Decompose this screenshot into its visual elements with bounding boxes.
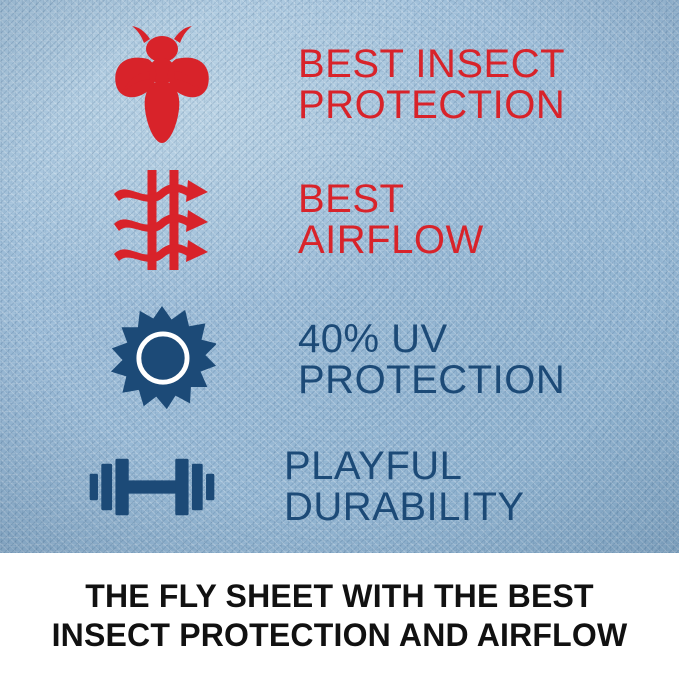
feature-row-durability: PLAYFUL DURABILITY — [88, 432, 668, 542]
bottom-caption: THE FLY SHEET WITH THE BEST INSECT PROTE… — [0, 553, 679, 679]
airflow-arrows-icon — [108, 164, 216, 276]
feature-label-insect-protection: BEST INSECT PROTECTION — [298, 44, 565, 126]
fly-insect-icon — [108, 23, 216, 147]
feature-row-airflow: BEST AIRFLOW — [108, 160, 668, 280]
product-feature-graphic: BEST INSECT PROTECTION — [0, 0, 679, 679]
dumbbell-durability-icon — [88, 445, 216, 529]
feature-label-uv-protection: 40% UV PROTECTION — [298, 319, 565, 401]
feature-label-airflow: BEST AIRFLOW — [298, 179, 484, 261]
feature-row-insect-protection: BEST INSECT PROTECTION — [108, 20, 668, 150]
caption-line-1: THE FLY SHEET WITH THE BEST — [85, 577, 594, 616]
feature-row-uv-protection: 40% UV PROTECTION — [108, 296, 668, 424]
feature-list: BEST INSECT PROTECTION — [0, 0, 679, 553]
feature-label-durability: PLAYFUL DURABILITY — [284, 446, 525, 528]
caption-line-2: INSECT PROTECTION AND AIRFLOW — [52, 616, 628, 655]
sun-uv-icon — [108, 302, 216, 418]
